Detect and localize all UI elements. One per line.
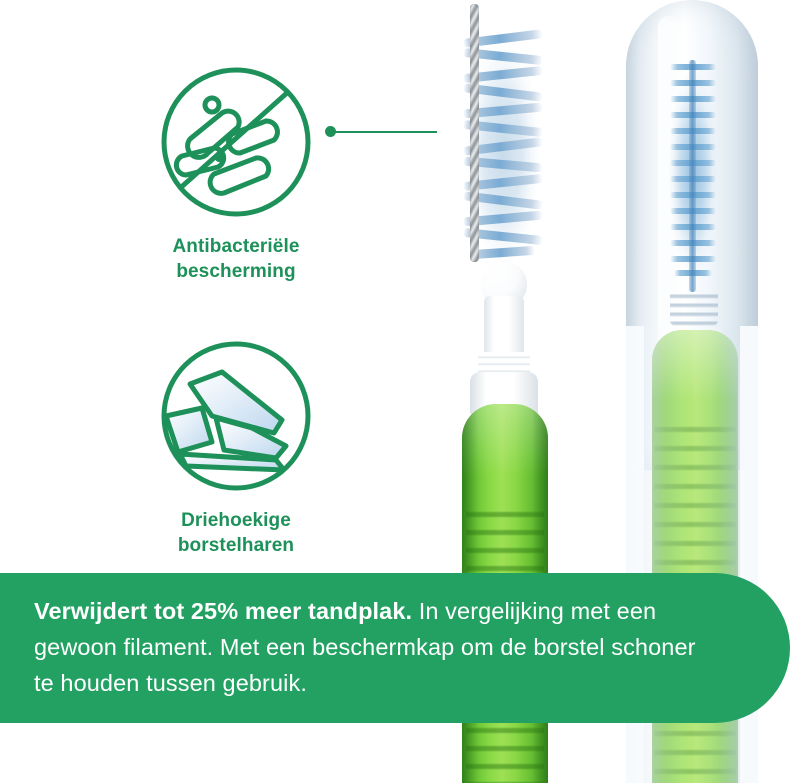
wire-core-inside-cap bbox=[689, 60, 696, 292]
feature-antibacterial: Antibacteriële bescherming bbox=[136, 62, 336, 284]
callout-connector-line bbox=[325, 126, 437, 137]
promo-text: Verwijdert tot 25% meer tandplak. In ver… bbox=[34, 594, 710, 701]
wire-core bbox=[470, 4, 479, 262]
feature-triangular: Driehoekige borstelharen bbox=[136, 336, 336, 558]
connector-line bbox=[334, 131, 437, 133]
cap-thread-rings bbox=[670, 290, 718, 326]
feature-triangular-label: Driehoekige borstelharen bbox=[136, 508, 336, 558]
neck-shaft bbox=[484, 296, 524, 358]
promo-banner: Verwijdert tot 25% meer tandplak. In ver… bbox=[0, 573, 790, 723]
bacteria-crossed-out-icon bbox=[156, 62, 316, 222]
triangular-filaments-icon bbox=[156, 336, 316, 496]
product-feature-image: Antibacteriële bescherming bbox=[0, 0, 800, 783]
feature-antibacterial-label: Antibacteriële bescherming bbox=[136, 234, 336, 284]
promo-headline: Verwijdert tot 25% meer tandplak. bbox=[34, 598, 412, 624]
